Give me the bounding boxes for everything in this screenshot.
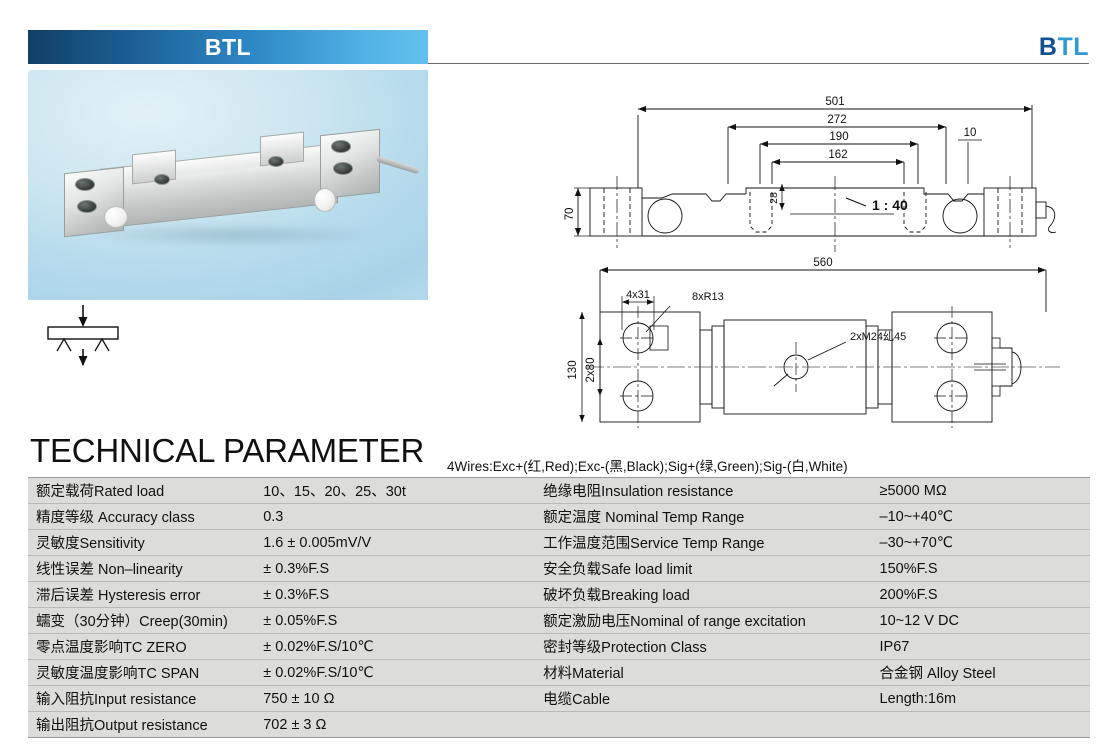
spec-label-left: 滞后误差 Hysteresis error bbox=[28, 582, 255, 608]
spec-label-right: 额定温度 Nominal Temp Range bbox=[535, 504, 871, 530]
spec-value-right: ≥5000 MΩ bbox=[872, 478, 1090, 504]
spec-label-right: 材料Material bbox=[535, 660, 871, 686]
spec-value-right: –10~+40℃ bbox=[872, 504, 1090, 530]
spec-value-left: ± 0.05%F.S bbox=[255, 608, 535, 634]
header-title-band: BTL bbox=[28, 30, 428, 64]
spec-value-left: 1.6 ± 0.005mV/V bbox=[255, 530, 535, 556]
dim-text-10: 10 bbox=[964, 127, 977, 139]
spec-value-right: 150%F.S bbox=[872, 556, 1090, 582]
spec-value-right: –30~+70℃ bbox=[872, 530, 1090, 556]
load-direction-symbol bbox=[28, 305, 138, 367]
wire-color-note: 4Wires:Exc+(红,Red);Exc-(黑,Black);Sig+(绿,… bbox=[447, 455, 848, 475]
mounting-hole bbox=[333, 162, 353, 175]
technical-parameter-table: 额定载荷Rated load10、15、20、25、30t绝缘电阻Insulat… bbox=[28, 477, 1090, 738]
spec-value-left: ± 0.02%F.S/10℃ bbox=[255, 634, 535, 660]
spec-value-left: 10、15、20、25、30t bbox=[255, 478, 535, 504]
dim-text-501: 501 bbox=[825, 96, 844, 108]
spec-value-right: 合金钢 Alloy Steel bbox=[872, 660, 1090, 686]
product-photo bbox=[28, 70, 428, 300]
spec-label-right: 破坏负载Breaking load bbox=[535, 582, 871, 608]
table-row: 蠕变（30分钟）Creep(30min)± 0.05%F.S额定激励电压Nomi… bbox=[28, 608, 1090, 634]
table-row: 灵敏度温度影响TC SPAN± 0.02%F.S/10℃材料Material合金… bbox=[28, 660, 1090, 686]
spec-label-left: 额定载荷Rated load bbox=[28, 478, 255, 504]
header-divider-rule bbox=[428, 63, 1089, 64]
load-pin bbox=[104, 206, 128, 228]
dim-text-2xM24: 2xM24乣45 bbox=[850, 330, 906, 343]
table-body: 额定载荷Rated load10、15、20、25、30t绝缘电阻Insulat… bbox=[28, 478, 1090, 738]
dim-text-2x80: 2x80 bbox=[585, 358, 597, 383]
mounting-hole bbox=[75, 178, 95, 191]
page-title: TECHNICAL PARAMETER bbox=[30, 432, 424, 470]
page-header: BTL BTL bbox=[0, 0, 1117, 70]
dim-text-162: 162 bbox=[828, 149, 847, 161]
spec-label-left: 精度等级 Accuracy class bbox=[28, 504, 255, 530]
spec-value-left: ± 0.3%F.S bbox=[255, 556, 535, 582]
brand-logo-first-letter: B bbox=[1039, 33, 1058, 61]
dim-text-560: 560 bbox=[813, 257, 832, 269]
table-row: 输出阻抗Output resistance702 ± 3 Ω bbox=[28, 712, 1090, 738]
spec-value-left: 750 ± 10 Ω bbox=[255, 686, 535, 712]
spec-value-left: ± 0.3%F.S bbox=[255, 582, 535, 608]
spec-label-left: 灵敏度Sensitivity bbox=[28, 530, 255, 556]
spec-label-right: 工作温度范围Service Temp Range bbox=[535, 530, 871, 556]
spec-value-left: 702 ± 3 Ω bbox=[255, 712, 535, 738]
spec-value-right: IP67 bbox=[872, 634, 1090, 660]
spec-label-right: 绝缘电阻Insulation resistance bbox=[535, 478, 871, 504]
spec-value-right: 200%F.S bbox=[872, 582, 1090, 608]
spec-value-right bbox=[872, 712, 1090, 738]
load-arrow-down-icon bbox=[79, 356, 88, 366]
header-band-title: BTL bbox=[28, 30, 428, 64]
table-row: 精度等级 Accuracy class0.3额定温度 Nominal Temp … bbox=[28, 504, 1090, 530]
table-row: 线性误差 Non–linearity± 0.3%F.S安全负载Safe load… bbox=[28, 556, 1090, 582]
brand-logo: BTL bbox=[1039, 30, 1089, 64]
spec-value-right: Length:16m bbox=[872, 686, 1090, 712]
dim-text-70: 70 bbox=[564, 208, 576, 221]
dim-text-190: 190 bbox=[829, 131, 848, 143]
load-arrow-down-icon bbox=[79, 317, 88, 327]
taper-ratio-label: 1 : 40 bbox=[872, 197, 908, 213]
dim-text-28: 28 bbox=[768, 192, 780, 204]
spec-label-left: 输出阻抗Output resistance bbox=[28, 712, 255, 738]
spec-value-left: 0.3 bbox=[255, 504, 535, 530]
table-row: 零点温度影响TC ZERO± 0.02%F.S/10℃密封等级Protectio… bbox=[28, 634, 1090, 660]
spec-label-left: 线性误差 Non–linearity bbox=[28, 556, 255, 582]
spec-value-left: ± 0.02%F.S/10℃ bbox=[255, 660, 535, 686]
mounting-hole bbox=[77, 200, 97, 213]
mounting-hole bbox=[331, 140, 351, 153]
engineering-drawings: 501 272 190 162 10 560 4x31 8xR13 2xM24乣… bbox=[560, 80, 1105, 435]
spec-label-right: 安全负载Safe load limit bbox=[535, 556, 871, 582]
table-row: 额定载荷Rated load10、15、20、25、30t绝缘电阻Insulat… bbox=[28, 478, 1090, 504]
dim-text-272: 272 bbox=[827, 114, 846, 126]
spec-value-right: 10~12 V DC bbox=[872, 608, 1090, 634]
spec-label-right: 密封等级Protection Class bbox=[535, 634, 871, 660]
table-row: 灵敏度Sensitivity1.6 ± 0.005mV/V工作温度范围Servi… bbox=[28, 530, 1090, 556]
spec-label-left: 输入阻抗Input resistance bbox=[28, 686, 255, 712]
threaded-hole bbox=[154, 174, 170, 185]
load-pin bbox=[314, 188, 336, 212]
spec-label-left: 灵敏度温度影响TC SPAN bbox=[28, 660, 255, 686]
spec-label-right bbox=[535, 712, 871, 738]
spec-label-right: 电缆Cable bbox=[535, 686, 871, 712]
brand-logo-rest: TL bbox=[1057, 33, 1089, 61]
spec-label-left: 零点温度影响TC ZERO bbox=[28, 634, 255, 660]
spec-label-right: 额定激励电压Nominal of range excitation bbox=[535, 608, 871, 634]
threaded-hole bbox=[268, 156, 284, 167]
dim-text-4x31: 4x31 bbox=[626, 289, 650, 301]
dim-text-8xR13: 8xR13 bbox=[692, 291, 724, 303]
load-cell-cable bbox=[376, 156, 420, 175]
photo-drop-shadow bbox=[83, 222, 383, 248]
table-row: 输入阻抗Input resistance750 ± 10 Ω电缆CableLen… bbox=[28, 686, 1090, 712]
table-row: 滞后误差 Hysteresis error± 0.3%F.S破坏负载Breaki… bbox=[28, 582, 1090, 608]
spec-label-left: 蠕变（30分钟）Creep(30min) bbox=[28, 608, 255, 634]
dim-text-130: 130 bbox=[567, 360, 579, 379]
